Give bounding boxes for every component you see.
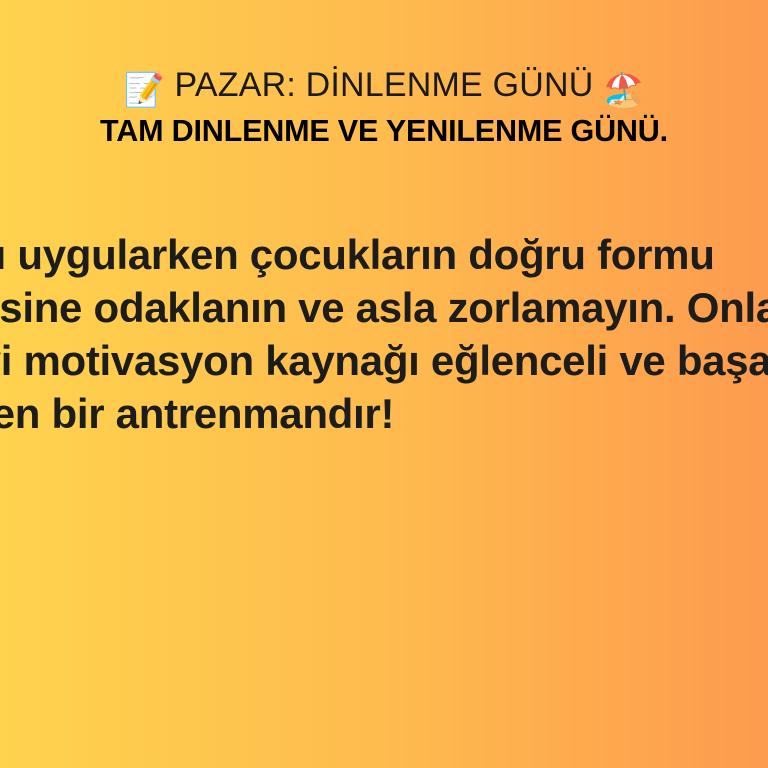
body-line: için en iyi motivasyon kaynağı eğlenceli… — [0, 334, 768, 387]
body-line: öğrenmesine odaklanın ve asla zorlamayın… — [0, 281, 768, 334]
body-line: Programı uygularken çocukların doğru for… — [0, 228, 768, 281]
title-line-primary-text: PAZAR: DİNLENME GÜNÜ — [165, 66, 603, 104]
body-paragraph: Programı uygularken çocukların doğru for… — [0, 228, 768, 440]
spiral-notepad-icon: 📝 — [124, 70, 165, 109]
beach-with-umbrella-icon: 🏖️ — [603, 70, 644, 109]
title-line-secondary: TAM DINLENME VE YENILENME GÜNÜ. — [6, 115, 762, 146]
slide-canvas: 📝 PAZAR: DİNLENME GÜNÜ 🏖️ TAM DINLENME V… — [0, 0, 768, 768]
header-title-block: 📝 PAZAR: DİNLENME GÜNÜ 🏖️ TAM DINLENME V… — [0, 64, 768, 146]
body-line: hissi veren bir antrenmandır! — [0, 387, 768, 440]
title-line-primary: 📝 PAZAR: DİNLENME GÜNÜ 🏖️ — [0, 64, 768, 108]
